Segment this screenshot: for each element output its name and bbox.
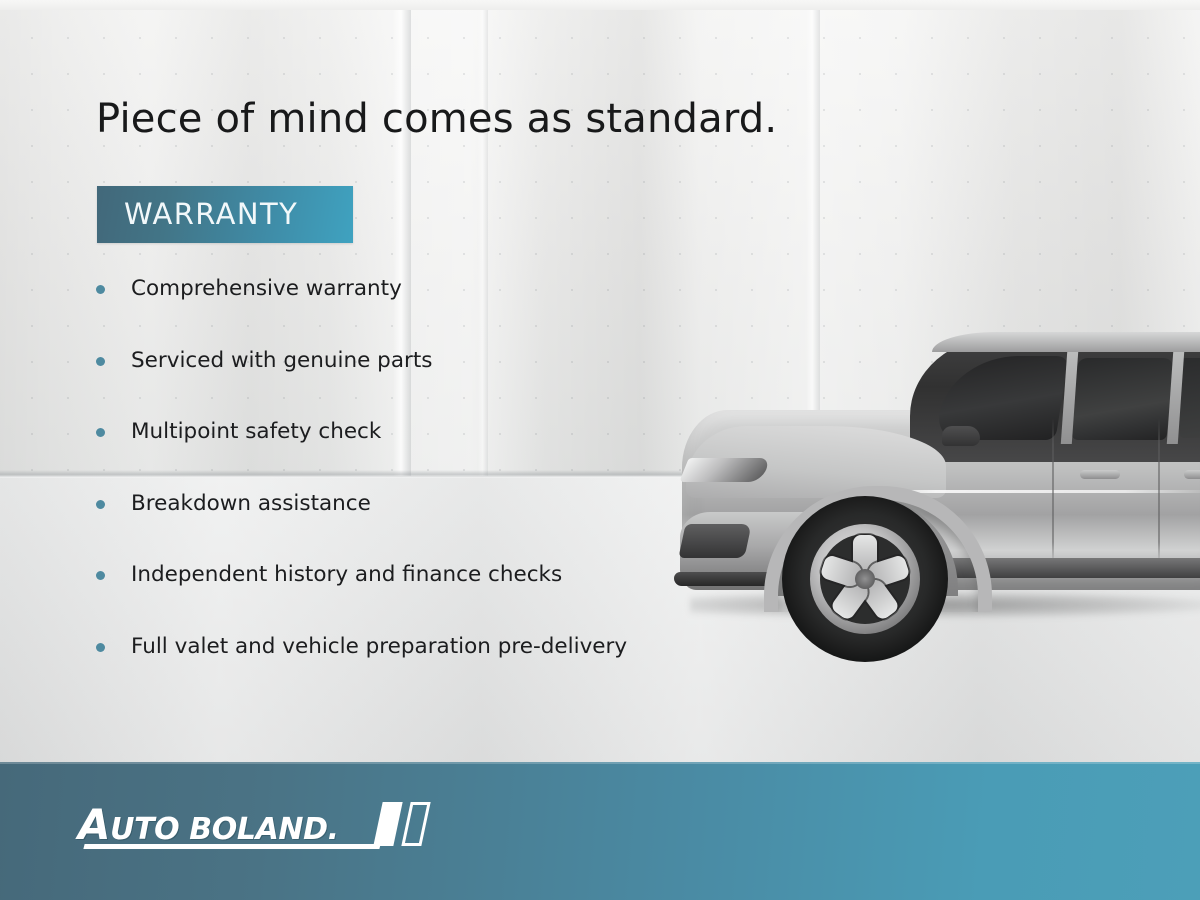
warranty-badge: WARRANTY (97, 186, 353, 243)
list-item-label: Full valet and vehicle preparation pre-d… (131, 634, 627, 659)
bullet-dot-icon (96, 357, 105, 366)
presentation-slide: Piece of mind comes as standard. WARRANT… (0, 0, 1200, 900)
list-item: Breakdown assistance (96, 491, 796, 563)
list-item-label: Comprehensive warranty (131, 276, 402, 301)
list-item-label: Serviced with genuine parts (131, 348, 432, 373)
logo-rest-letters: UTO BOLAND. (110, 812, 338, 847)
car-side-mirror (942, 426, 980, 446)
warranty-badge-label: WARRANTY (124, 197, 298, 231)
list-item-label: Independent history and finance checks (131, 562, 562, 587)
list-item: Serviced with genuine parts (96, 348, 796, 420)
logo-slash-solid-icon (373, 802, 402, 846)
car-alloy-wheel (810, 524, 920, 634)
list-item: Full valet and vehicle preparation pre-d… (96, 634, 796, 706)
list-item-label: Multipoint safety check (131, 419, 381, 444)
car-door-seam (1158, 418, 1160, 564)
background-top-strip (0, 0, 1200, 10)
footer-top-edge (0, 762, 1200, 764)
car-door-handle (1184, 470, 1200, 479)
logo-cap-letter: A (78, 800, 110, 849)
car-door-seam (1052, 418, 1054, 564)
bullet-dot-icon (96, 428, 105, 437)
logo-wordmark: AUTO BOLAND. (78, 800, 339, 849)
bullet-dot-icon (96, 571, 105, 580)
car-roof (932, 332, 1200, 352)
wheel-hub-cap (855, 569, 875, 589)
logo-underline-bar (83, 844, 380, 849)
bullet-dot-icon (96, 285, 105, 294)
auto-boland-logo: AUTO BOLAND. (78, 800, 418, 856)
bullet-dot-icon (96, 500, 105, 509)
list-item: Independent history and finance checks (96, 562, 796, 634)
slide-title: Piece of mind comes as standard. (96, 96, 777, 142)
feature-bullet-list: Comprehensive warranty Serviced with gen… (96, 276, 796, 706)
list-item-label: Breakdown assistance (131, 491, 371, 516)
list-item: Multipoint safety check (96, 419, 796, 491)
car-door-handle (1080, 470, 1120, 479)
car-quarter-window (1180, 358, 1200, 438)
list-item: Comprehensive warranty (96, 276, 796, 348)
bullet-dot-icon (96, 643, 105, 652)
